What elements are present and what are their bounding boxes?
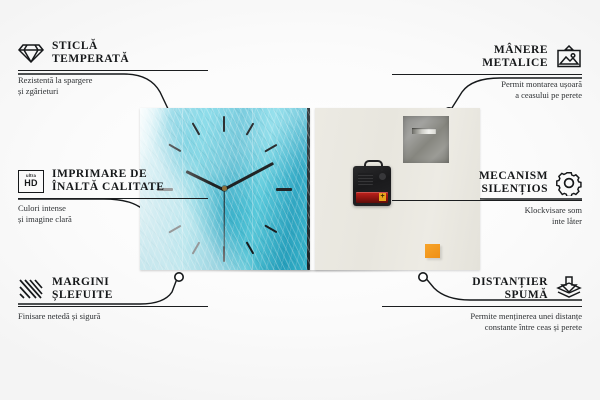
- callout-title-line2: METALICE: [482, 57, 548, 70]
- hour-marker: [264, 225, 277, 233]
- callout-title-line1: MÂNERE: [482, 44, 548, 57]
- callout-title-line1: MARGINI: [52, 276, 113, 289]
- callout-rule: [18, 198, 208, 199]
- callout-desc-line1: Klockvisare som: [392, 205, 582, 216]
- foam-spacer-pad: [425, 244, 440, 258]
- callout-polished-edges: MARGINI ȘLEFUITE Finisare netedă și sigu…: [18, 276, 208, 322]
- callout-metal-handles: MÂNERE METALICE Permit montarea ușoară a…: [392, 44, 582, 101]
- callout-desc-line1: Rezistentă la spargere: [18, 75, 208, 86]
- callout-rule: [18, 70, 208, 71]
- callout-desc-line1: Permite menținerea unei distanțe: [382, 311, 582, 322]
- gear-icon: [556, 170, 582, 196]
- hour-marker: [192, 242, 200, 255]
- callout-desc-line1: Culori intense: [18, 203, 208, 214]
- callout-title-line1: MECANISM: [479, 170, 548, 183]
- mechanism-knob: [379, 173, 386, 180]
- callout-title-line2: ȘLEFUITE: [52, 289, 113, 302]
- hour-marker: [168, 225, 181, 233]
- callout-desc-line2: și zgârieturi: [18, 86, 208, 97]
- callout-rule: [382, 306, 582, 307]
- hour-marker: [264, 144, 277, 152]
- diagonal-lines-icon: [18, 276, 44, 302]
- metal-hanger-plate: [403, 116, 449, 163]
- callout-hd-print: ultra HD IMPRIMARE DE ÎNALTĂ CALITATE Cu…: [18, 168, 208, 225]
- clock-center-pivot: [222, 186, 227, 191]
- hanger-slot: [412, 128, 436, 134]
- callout-title-line1: IMPRIMARE DE: [52, 168, 164, 181]
- battery: +: [356, 192, 388, 203]
- callout-silent-mechanism: MECANISM SILENȚIOS Klockvisare som inte …: [392, 170, 582, 227]
- diamond-icon: [18, 40, 44, 66]
- callout-desc-line2: constante între ceas și perete: [382, 322, 582, 333]
- hour-marker: [276, 188, 292, 191]
- callout-title-line2: ÎNALTĂ CALITATE: [52, 181, 164, 194]
- callout-desc-line2: a ceasului pe perete: [392, 90, 582, 101]
- second-hand: [223, 190, 224, 252]
- hour-marker: [223, 116, 225, 132]
- clock-mechanism: +: [353, 166, 391, 206]
- callout-rule: [18, 306, 208, 307]
- infographic-canvas: + STICLĂ TEMPERATĂ Rezistentă la sparger…: [0, 0, 600, 400]
- callout-desc-line1: Finisare netedă și sigură: [18, 311, 208, 322]
- callout-rule: [392, 74, 582, 75]
- callout-desc-line1: Permit montarea ușoară: [392, 79, 582, 90]
- callout-title-line2: SILENȚIOS: [479, 183, 548, 196]
- arrow-into-layer-icon: [556, 276, 582, 302]
- ultra-hd-icon: ultra HD: [18, 168, 44, 194]
- callout-title-line1: STICLĂ: [52, 40, 129, 53]
- mechanism-dial: [358, 173, 373, 185]
- picture-frame-icon: [556, 44, 582, 70]
- minute-hand: [223, 162, 274, 191]
- callout-title-line1: DISTANȚIER: [472, 276, 548, 289]
- hour-marker: [192, 123, 200, 136]
- callout-title-line2: TEMPERATĂ: [52, 53, 129, 66]
- mechanism-hanging-loop: [364, 160, 383, 171]
- callout-desc-line2: inte låter: [392, 216, 582, 227]
- hd-label: HD: [24, 179, 38, 188]
- callout-desc-line2: și imagine clară: [18, 214, 208, 225]
- callout-rule: [392, 200, 582, 201]
- battery-plus-label: +: [379, 193, 386, 201]
- callout-tempered-glass: STICLĂ TEMPERATĂ Rezistentă la spargere …: [18, 40, 208, 97]
- callout-title-line2: SPUMĂ: [472, 289, 548, 302]
- hour-marker: [168, 144, 181, 152]
- callout-foam-spacer: DISTANȚIER SPUMĂ Permite menținerea unei…: [382, 276, 582, 333]
